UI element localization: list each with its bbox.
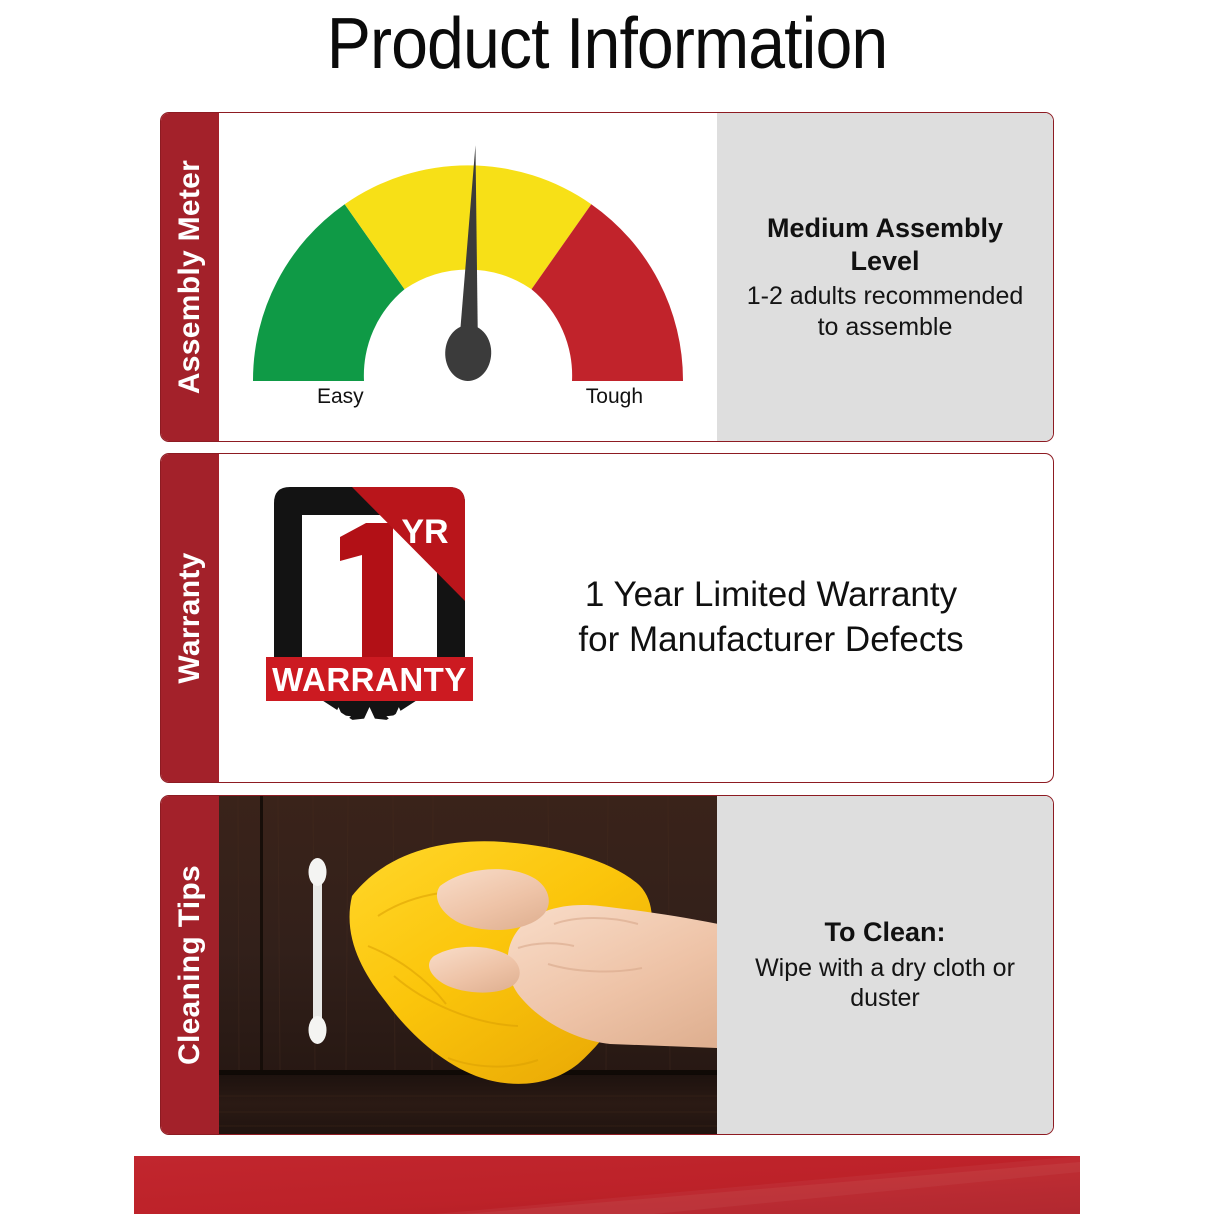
cleaning-photo-area xyxy=(219,796,717,1134)
panel-tab-cleaning-tips: Cleaning Tips xyxy=(161,796,219,1134)
assembly-level-heading: Medium Assembly Level xyxy=(733,212,1037,278)
assembly-level-detail: 1-2 adults recommended to assemble xyxy=(733,281,1037,342)
gauge-wrap: Easy Tough xyxy=(219,113,717,441)
cleaning-photo xyxy=(219,796,717,1134)
gauge-label-tough: Tough xyxy=(586,385,643,409)
badge-warranty-text: WARRANTY xyxy=(272,661,467,698)
panel-warranty: Warranty YR xyxy=(160,453,1054,783)
cleaning-heading: To Clean: xyxy=(825,916,946,949)
panel-cleaning-tips: Cleaning Tips xyxy=(160,795,1054,1135)
panel-tab-assembly-meter: Assembly Meter xyxy=(161,113,219,441)
cleaning-detail: Wipe with a dry cloth or duster xyxy=(733,953,1037,1014)
warranty-line-1: 1 Year Limited Warranty xyxy=(519,573,1023,618)
badge-stars xyxy=(326,707,411,741)
page-title: Product Information xyxy=(49,8,1166,80)
assembly-gauge-area: Easy Tough xyxy=(219,113,717,441)
warranty-line-2: for Manufacturer Defects xyxy=(519,618,1023,663)
warranty-badge-slot: YR WARRANTY xyxy=(219,481,519,756)
cleaning-photo-illustration xyxy=(219,796,717,1134)
warranty-badge-icon: YR WARRANTY xyxy=(262,481,477,756)
warranty-description: 1 Year Limited Warranty for Manufacturer… xyxy=(519,573,1053,663)
cleaning-info-box: To Clean: Wipe with a dry cloth or duste… xyxy=(717,796,1053,1134)
bottom-banner-graphic xyxy=(134,1156,1080,1214)
panel-tab-label: Warranty xyxy=(173,552,207,683)
badge-yr-text: YR xyxy=(401,513,448,551)
assembly-gauge-chart xyxy=(233,131,703,401)
panel-tab-label: Assembly Meter xyxy=(173,160,207,394)
bottom-banner xyxy=(134,1156,1080,1214)
panel-tab-warranty: Warranty xyxy=(161,454,219,782)
panel-tab-label: Cleaning Tips xyxy=(173,865,207,1065)
assembly-info-box: Medium Assembly Level 1-2 adults recomme… xyxy=(717,113,1053,441)
warranty-content: YR WARRANTY 1 Year Limited Warranty for … xyxy=(219,454,1053,782)
gauge-label-easy: Easy xyxy=(317,385,364,409)
panel-assembly-meter: Assembly Meter Easy Tough Medium Assembl xyxy=(160,112,1054,442)
